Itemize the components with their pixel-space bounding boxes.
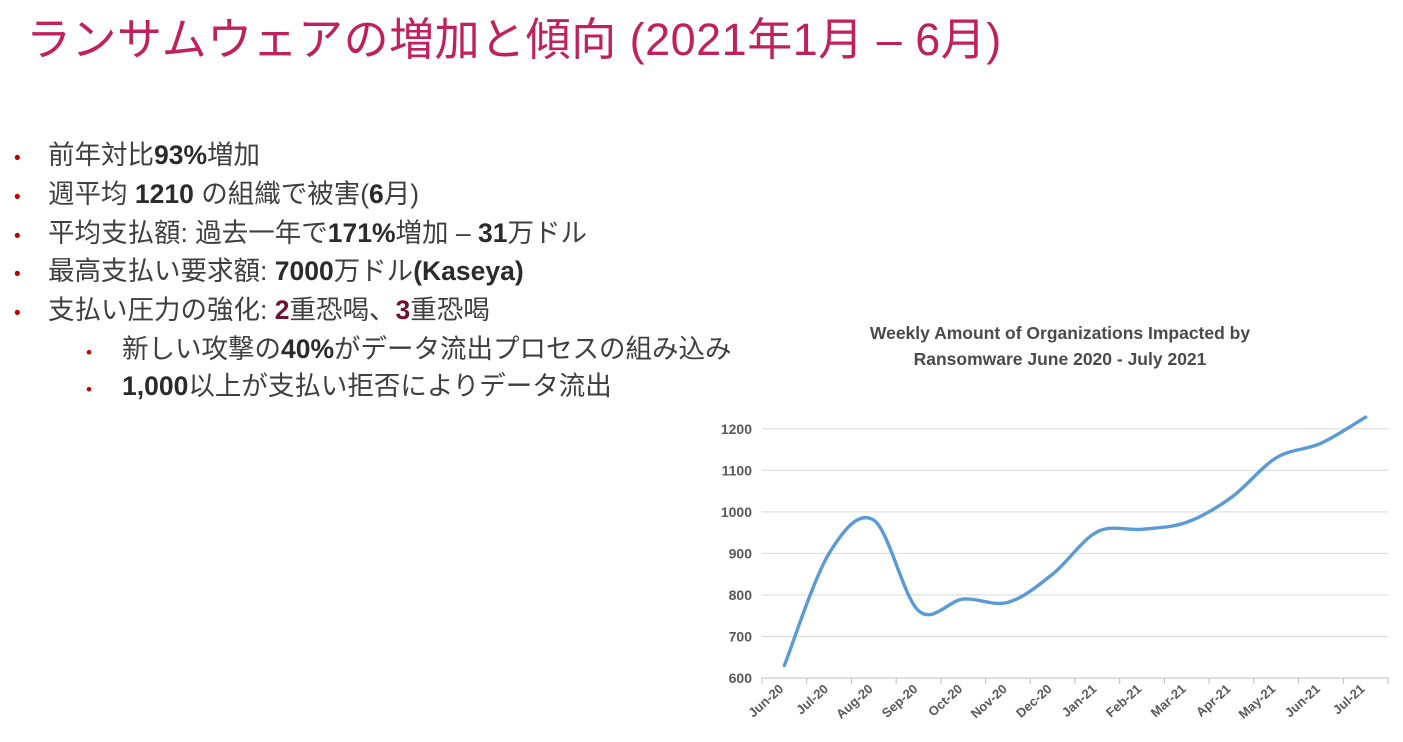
x-axis-tick-label: Aug-20 [833,681,876,722]
x-axis-tick-label-group: Aug-20 [833,681,876,722]
y-axis-tick-label: 1200 [721,421,752,437]
x-axis-tick-label: Jun-21 [1282,681,1323,720]
text-span: 万ドル [507,218,587,248]
bullet-list: •前年対比93%増加•週平均 1210 の組織で被害(6月)•平均支払額: 過去… [14,138,734,406]
text-span: 増加 [207,140,260,170]
text-span: 以上が支払い拒否によりデータ流出 [188,371,611,401]
text-span: 最高支払い要求額: [48,256,275,286]
text-span: 月) [384,179,419,209]
x-axis-tick-label: Nov-20 [968,681,1010,721]
x-axis-tick-label-group: Apr-21 [1193,681,1234,720]
bullet-dot-icon: • [14,177,48,207]
text-span: 1210 [135,179,194,209]
list-item-label: 支払い圧力の強化: 2重恐喝、3重恐喝 [48,293,734,329]
text-span: 新しい攻撃の [122,334,281,364]
list-item-label: 平均支払額: 過去一年で171%増加 – 31万ドル [48,216,734,252]
x-axis-tick-label-group: Nov-20 [968,681,1010,721]
y-axis-tick-label: 800 [729,587,753,603]
line-chart-svg: 600700800900100011001200Jun-20Jul-20Aug-… [700,306,1403,742]
text-span: 重恐喝 [410,295,490,325]
x-axis-tick-label-group: Jul-20 [793,681,831,717]
y-axis-tick-label: 600 [729,670,753,686]
text-span: 6 [369,179,384,209]
x-axis-tick-label: Sep-20 [879,681,921,721]
x-axis-tick-label: Dec-20 [1013,681,1055,721]
list-item: •1,000以上が支払い拒否によりデータ流出 [14,369,734,404]
y-axis-tick-label: 900 [729,545,753,561]
text-span: がデータ流出プロセスの組み込み [334,334,732,364]
list-item: •新しい攻撃の40%がデータ流出プロセスの組み込み [14,332,734,367]
text-span: 40% [281,334,334,364]
text-span: 93% [154,140,207,170]
page-title: ランサムウェアの増加と傾向 (2021年1月 – 6月) [26,14,1366,66]
list-item: •週平均 1210 の組織で被害(6月) [14,177,734,213]
x-axis-tick-label-group: Jun-20 [745,681,786,720]
text-span: 重恐喝、 [289,295,395,325]
y-axis-tick-label: 700 [729,628,753,644]
data-series-line [784,417,1365,665]
list-item-label: 最高支払い要求額: 7000万ドル(Kaseya) [48,254,734,290]
bullet-dot-icon: • [86,332,122,361]
chart-panel: Weekly Amount of Organizations Impacted … [700,306,1403,742]
x-axis-tick-label: May-21 [1235,681,1278,722]
text-span: 3 [395,295,410,325]
x-axis-tick-label-group: Jul-21 [1330,681,1368,717]
x-axis-tick-label: Jul-20 [793,681,831,717]
text-span: 万ドル [334,256,414,286]
x-axis-tick-label: Apr-21 [1193,681,1234,720]
bullet-dot-icon: • [86,369,122,398]
text-span: の組織で被害( [194,179,369,209]
x-axis-tick-label-group: Jun-21 [1282,681,1323,720]
x-axis-tick-label-group: Jan-21 [1059,681,1100,720]
x-axis-tick-label-group: Oct-20 [925,681,965,719]
bullet-dot-icon: • [14,293,48,323]
x-axis-tick-label-group: May-21 [1235,681,1278,722]
x-axis-tick-label-group: Dec-20 [1013,681,1055,721]
y-axis-tick-label: 1100 [722,462,753,478]
text-span: 171% [328,218,396,248]
x-axis-tick-label-group: Sep-20 [879,681,921,721]
x-axis-tick-label: Oct-20 [925,681,965,719]
bullet-dot-icon: • [14,254,48,284]
text-span: 31 [478,218,507,248]
list-item-label: 週平均 1210 の組織で被害(6月) [48,177,734,213]
list-item: •前年対比93%増加 [14,138,734,174]
list-item: •支払い圧力の強化: 2重恐喝、3重恐喝 [14,293,734,329]
text-span: 週平均 [48,179,135,209]
x-axis-tick-label: Jan-21 [1059,681,1100,720]
list-item: •最高支払い要求額: 7000万ドル(Kaseya) [14,254,734,290]
x-axis-tick-label: Mar-21 [1148,681,1189,720]
text-span: 支払い圧力の強化: [48,295,275,325]
bullet-dot-icon: • [14,216,48,246]
x-axis-tick-label: Jul-21 [1330,681,1368,717]
list-item-label: 新しい攻撃の40%がデータ流出プロセスの組み込み [122,332,734,367]
text-span: 増加 – [396,218,478,248]
y-axis-tick-label: 1000 [721,504,752,520]
chart-plot-area: 600700800900100011001200Jun-20Jul-20Aug-… [700,306,1403,742]
text-span: 1,000 [122,371,188,401]
list-item: •平均支払額: 過去一年で171%増加 – 31万ドル [14,216,734,252]
text-span: 前年対比 [48,140,154,170]
text-span: (Kaseya) [413,256,523,286]
text-span: 2 [275,295,290,325]
list-item-label: 前年対比93%増加 [48,138,734,174]
x-axis-tick-label: Feb-21 [1103,681,1144,720]
text-span: 平均支払額: 過去一年で [48,218,328,248]
list-item-label: 1,000以上が支払い拒否によりデータ流出 [122,369,734,404]
x-axis-tick-label: Jun-20 [745,681,786,720]
bullet-dot-icon: • [14,138,48,168]
x-axis-tick-label-group: Feb-21 [1103,681,1144,720]
x-axis-tick-label-group: Mar-21 [1148,681,1189,720]
text-span: 7000 [275,256,334,286]
